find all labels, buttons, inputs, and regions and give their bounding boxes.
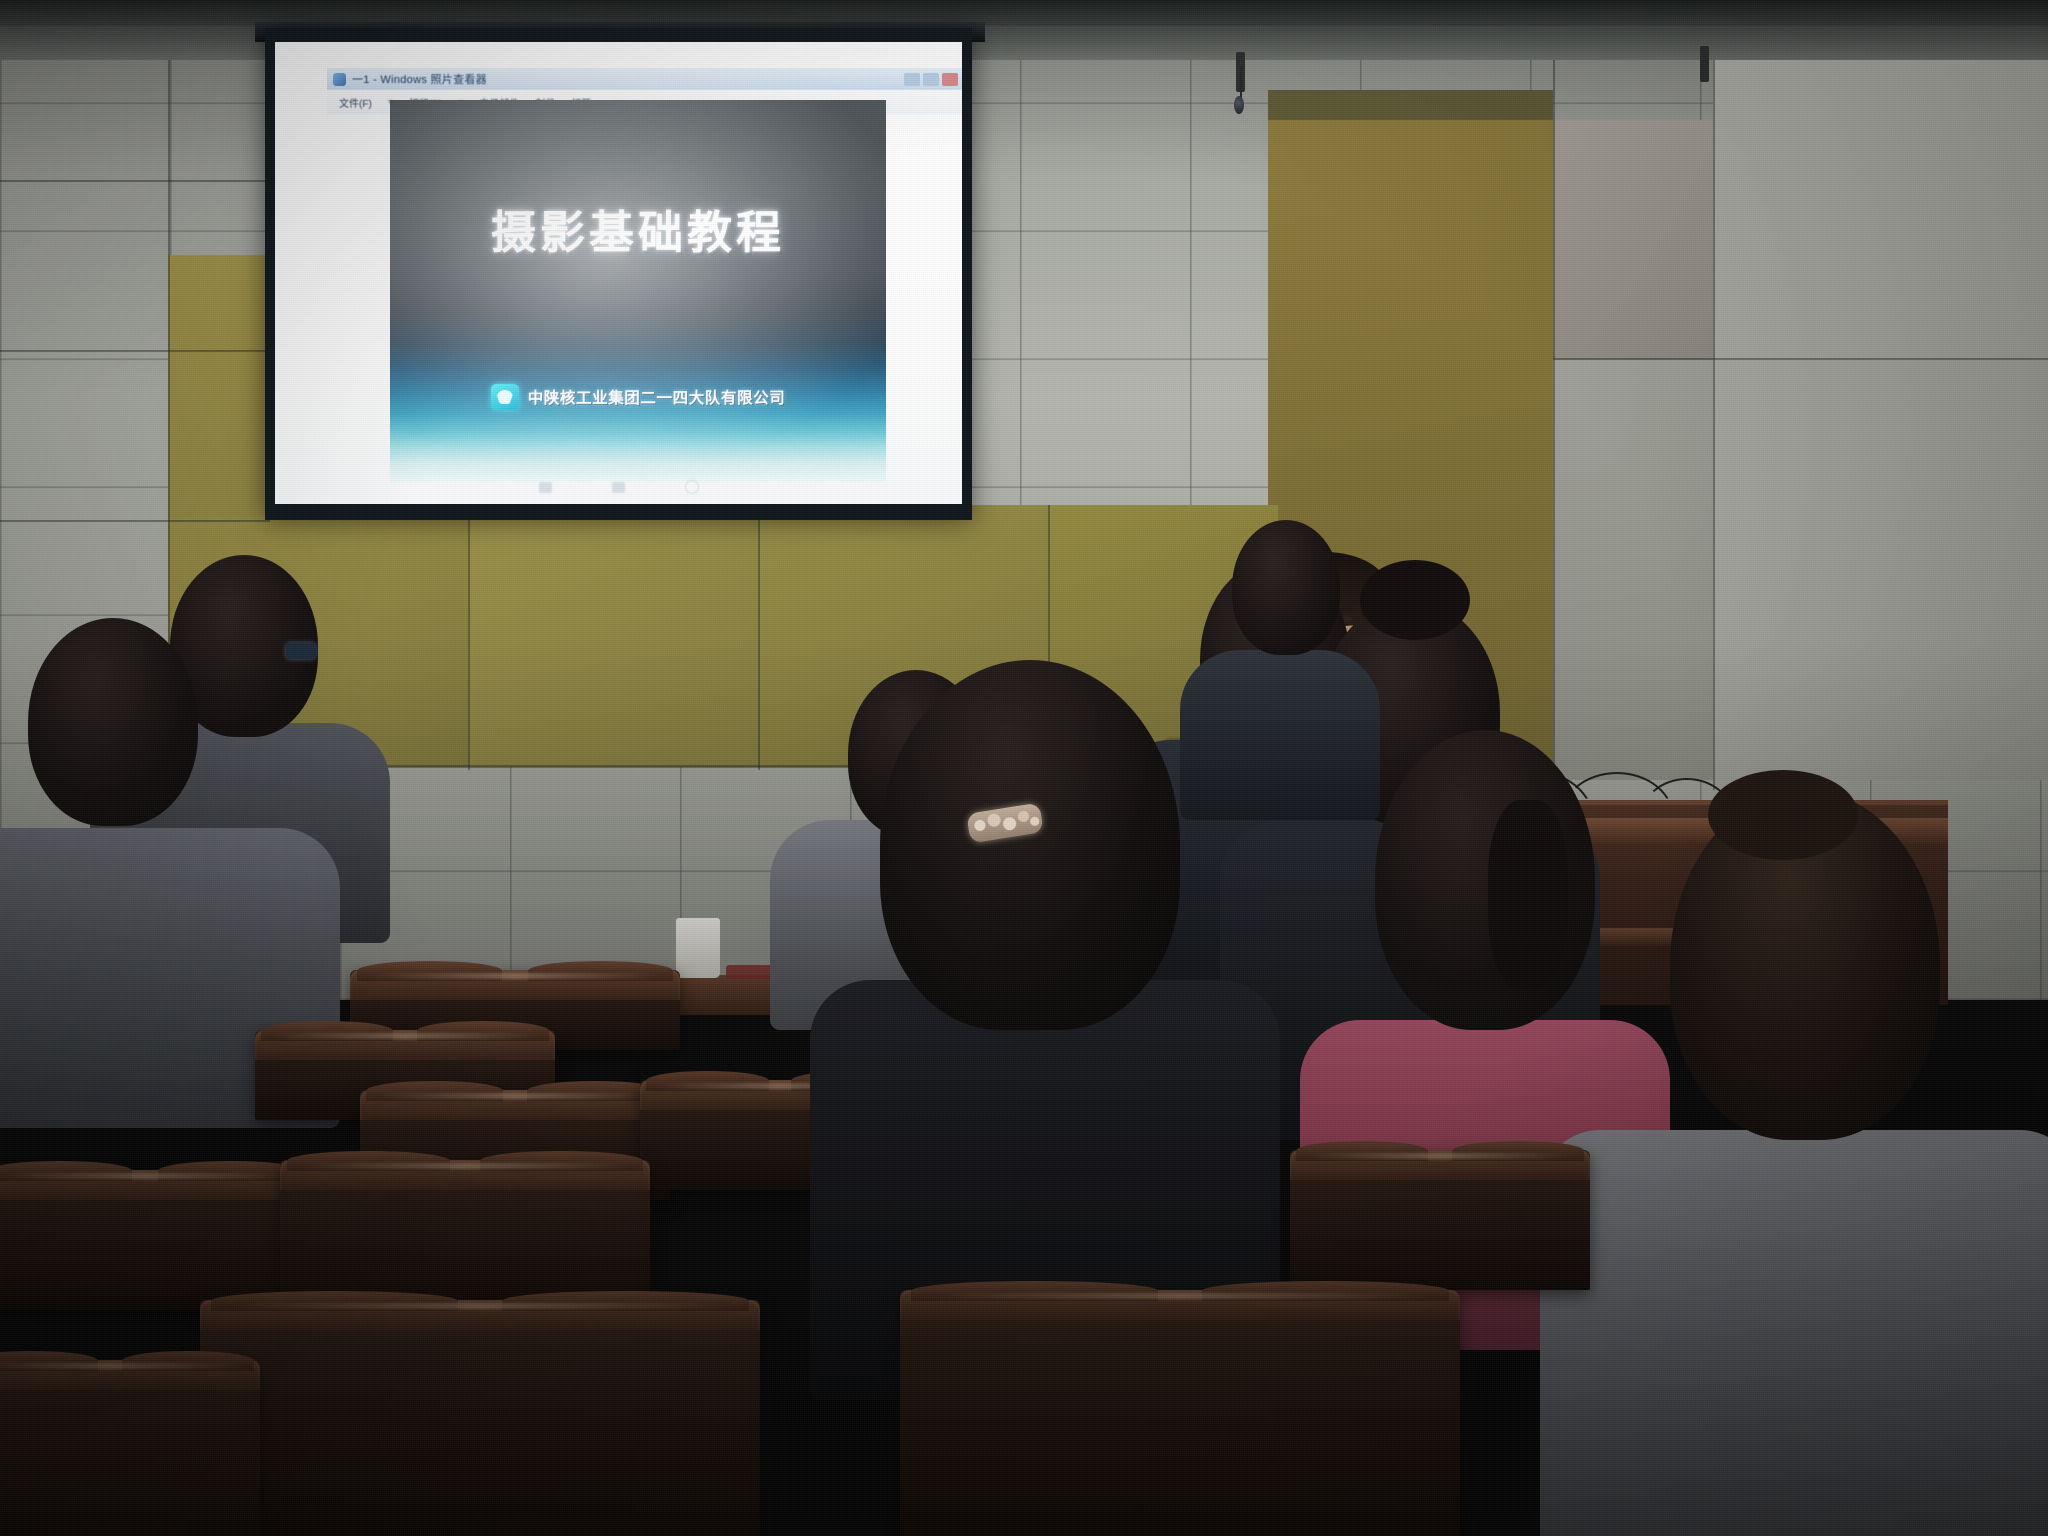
- audience-member-man-grey-jacket-front-left: [0, 610, 320, 1070]
- person-head: [1232, 520, 1340, 655]
- minimize-icon[interactable]: [904, 73, 920, 86]
- person-head: [880, 660, 1180, 1030]
- wall-seam: [1713, 60, 1715, 790]
- bench-highlight: [0, 1363, 242, 1369]
- desktop-icon-row: [275, 476, 962, 498]
- window-icon: [539, 482, 552, 493]
- bench-row-3-c: [1290, 1150, 1590, 1290]
- bench-highlight: [0, 1173, 290, 1179]
- bench-row-4-b: [900, 1290, 1460, 1536]
- wall-seam: [1553, 358, 2048, 360]
- wall-seam: [0, 520, 270, 522]
- lecture-hall-photo: 一1 - Windows 照片查看器 文件(F) ▾ 打印(P) ▾ 电子邮件 …: [0, 0, 2048, 1536]
- audience-member-woman-ponytail-far-right: [1600, 790, 2048, 1430]
- bench-row-4-a: [200, 1300, 760, 1536]
- bench-row-4-c: [0, 1360, 260, 1536]
- ceiling-bracket-far-right: [1700, 46, 1709, 82]
- slide-texture: [390, 100, 886, 482]
- menu-item-file[interactable]: 文件(F): [339, 95, 372, 110]
- wall-panel-grey-far-right: [1713, 60, 2048, 780]
- company-logo-icon: [491, 384, 519, 410]
- person-ponytail: [1488, 800, 1568, 990]
- wall-panel-grey-upper-right: [1553, 120, 1713, 360]
- wall-panel-trim: [1268, 90, 1553, 122]
- bench-highlight: [302, 1163, 628, 1169]
- photo-viewer-title: 一1 - Windows 照片查看器: [352, 71, 487, 87]
- bench-highlight: [234, 1303, 727, 1309]
- bench-row-3-a: [0, 1170, 310, 1310]
- bench-highlight: [273, 1033, 537, 1039]
- person-head: [28, 618, 198, 826]
- person-hair-top: [1708, 770, 1858, 860]
- wall-seam: [0, 180, 270, 182]
- slide-title: 摄影基础教程: [390, 196, 886, 261]
- projection-screen-surface: 一1 - Windows 照片查看器 文件(F) ▾ 打印(P) ▾ 电子邮件 …: [275, 42, 962, 504]
- circle-icon: [685, 480, 699, 494]
- folder-icon: [612, 482, 625, 493]
- bench-highlight: [1308, 1153, 1572, 1159]
- wall-seam: [0, 350, 270, 352]
- bench-highlight: [934, 1293, 1427, 1299]
- slide-organization: 中陕核工业集团二一四大队有限公司: [528, 386, 786, 408]
- screen-right-hook: [1234, 96, 1244, 114]
- photo-viewer-titlebar[interactable]: 一1 - Windows 照片查看器: [327, 68, 962, 90]
- person-torso: [1540, 1130, 2048, 1536]
- bench-row-3-b: [280, 1160, 650, 1310]
- photo-viewer-icon: [333, 73, 346, 86]
- maximize-icon[interactable]: [923, 73, 939, 86]
- projection-screen: 一1 - Windows 照片查看器 文件(F) ▾ 打印(P) ▾ 电子邮件 …: [265, 28, 972, 520]
- person-torso: [1180, 650, 1380, 820]
- audience-area: [0, 700, 2048, 1536]
- window-controls[interactable]: [904, 73, 962, 86]
- audience-member-person-far-back-right: [1180, 520, 1380, 780]
- close-icon[interactable]: [942, 73, 958, 86]
- presentation-slide: 摄影基础教程 中陕核工业集团二一四大队有限公司: [390, 100, 886, 482]
- bench-highlight: [379, 1093, 652, 1099]
- slide-organization-row: 中陕核工业集团二一四大队有限公司: [390, 384, 886, 410]
- bench-highlight: [370, 973, 660, 979]
